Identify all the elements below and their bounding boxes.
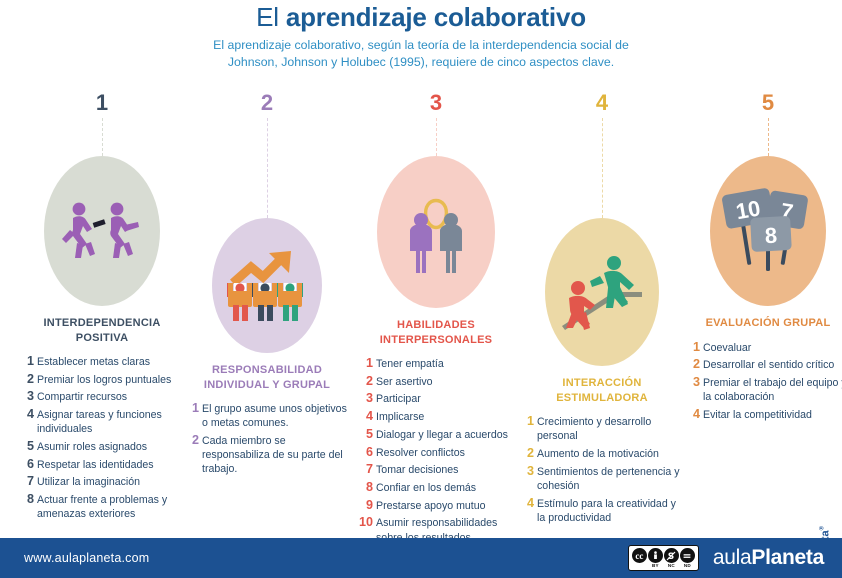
helping-hand-slope-icon	[556, 252, 648, 332]
column-4: 4 INTERACCIÓN ESTIMULADORA1Crecimiento y…	[518, 90, 686, 528]
watermark-registered: ®	[819, 526, 825, 530]
footer-bar: www.aulaplaneta.com cc BY	[0, 538, 842, 578]
list-item: 1El grupo asume unos objetivos o metas c…	[183, 402, 351, 430]
paddle-score-2: 8	[764, 223, 778, 249]
list-item: 4Asignar tareas y funciones individuales	[18, 408, 186, 436]
column-number-4: 4	[518, 90, 686, 118]
column-heading-3: HABILIDADES INTERPERSONALES	[352, 318, 520, 347]
list-item-number: 9	[352, 498, 373, 513]
list-item-text: Desarrollar el sentido crítico	[703, 359, 834, 371]
list-item-number: 4	[684, 407, 700, 422]
list-item-number: 1	[352, 356, 373, 371]
list-item-number: 6	[18, 457, 34, 472]
list-item-text: Actuar frente a problemas y amenazas ext…	[37, 494, 167, 520]
crossed-currency-glyph: S	[665, 550, 677, 562]
list-item-number: 4	[352, 409, 373, 424]
list-item-text: Respetar las identidades	[37, 459, 154, 471]
team-arrow-up-icon	[212, 218, 322, 353]
page-title-light: El	[256, 2, 286, 32]
list-item: 2Ser asertivo	[352, 375, 520, 389]
relay-runners-icon	[44, 156, 160, 306]
connector-dashed-line	[102, 118, 103, 156]
list-item: 4Estímulo para la creatividad y la produ…	[518, 497, 686, 525]
column-number-3: 3	[352, 90, 520, 118]
list-item: 5Dialogar y llegar a acuerdos	[352, 428, 520, 442]
column-heading-4: INTERACCIÓN ESTIMULADORA	[518, 376, 686, 405]
list-item: 2Aumento de la motivación	[518, 447, 686, 461]
list-item-number: 2	[352, 374, 373, 389]
cc-by-col: BY	[648, 548, 663, 569]
footer-brand-light: aula	[713, 546, 752, 569]
column-number-5: 5	[684, 90, 842, 118]
list-item-text: Establecer metas claras	[37, 356, 150, 368]
list-item-text: Compartir recursos	[37, 391, 127, 403]
list-item-number: 3	[684, 375, 700, 390]
list-item-number: 4	[18, 407, 34, 422]
icon-circle-wrap	[352, 156, 520, 308]
list-item: 4Evitar la competitividad	[684, 408, 842, 422]
list-item: 3Sentimientos de pertenencia y cohesión	[518, 465, 686, 493]
list-item: 8Actuar frente a problemas y amenazas ex…	[18, 493, 186, 521]
column-points-list: 1Tener empatía2Ser asertivo3Participar4I…	[352, 357, 520, 545]
icon-circle-wrap	[518, 218, 686, 366]
list-item-text: Asignar tareas y funciones individuales	[37, 409, 162, 435]
column-number-1: 1	[18, 90, 186, 118]
column-heading-2: RESPONSABILIDAD INDIVIDUAL Y GRUPAL	[183, 363, 351, 392]
list-item-number: 5	[18, 439, 34, 454]
column-number-2: 2	[183, 90, 351, 118]
cc-nc-col: S NC	[664, 548, 679, 569]
footer-right: cc BY S	[628, 545, 824, 571]
footer-url[interactable]: www.aulaplaneta.com	[24, 551, 149, 565]
list-item-number: 7	[18, 474, 34, 489]
column-points-list: 1Coevaluar2Desarrollar el sentido crític…	[684, 341, 842, 423]
list-item: 3Compartir recursos	[18, 390, 186, 404]
person-glyph	[650, 550, 661, 561]
list-item-number: 1	[18, 354, 34, 369]
list-item: 1Tener empatía	[352, 357, 520, 371]
team-arrow-up-icon	[221, 247, 313, 325]
page-title: El aprendizaje colaborativo	[0, 2, 842, 33]
list-item-text: Premiar el trabajo del equipo y la colab…	[703, 377, 842, 403]
list-item: 7Utilizar la imaginación	[18, 475, 186, 489]
list-item-number: 2	[18, 372, 34, 387]
cc-label-by: BY	[652, 563, 659, 569]
list-item-text: Implicarse	[376, 411, 424, 423]
column-heading-5: EVALUACIÓN GRUPAL	[684, 316, 842, 331]
list-item-number: 1	[183, 401, 199, 416]
creative-commons-icon: cc	[632, 548, 647, 563]
list-item: 6Respetar las identidades	[18, 458, 186, 472]
list-item-text: Estímulo para la creatividad y la produc…	[537, 498, 676, 524]
column-2: 2	[183, 90, 351, 480]
list-item-text: Tomar decisiones	[376, 464, 458, 476]
score-paddles-icon: 10 7 8	[710, 156, 826, 306]
column-points-list: 1El grupo asume unos objetivos o metas c…	[183, 402, 351, 477]
list-item-number: 8	[18, 492, 34, 507]
list-item-number: 10	[352, 515, 373, 530]
list-item-text: Coevaluar	[703, 342, 751, 354]
noncommercial-icon: S	[664, 548, 679, 563]
cc-label-nc: NC	[668, 563, 675, 569]
list-item: 2Cada miembro se responsabiliza de su pa…	[183, 434, 351, 477]
footer-brand: aulaPlaneta	[713, 546, 824, 570]
list-item-number: 2	[518, 446, 534, 461]
list-item: 2Desarrollar el sentido crítico	[684, 358, 842, 372]
infographic-page: El aprendizaje colaborativo El aprendiza…	[0, 0, 842, 578]
list-item: 1Crecimiento y desarrollo personal	[518, 415, 686, 443]
icon-circle-wrap: 10 7 8	[684, 156, 842, 306]
list-item-number: 3	[18, 389, 34, 404]
list-item: 5Asumir roles asignados	[18, 440, 186, 454]
two-people-dialogue-icon	[396, 187, 476, 277]
column-5: 5 10 7 8 EVALUACIÓN GRUPAL1Coevaluar2Des…	[684, 90, 842, 426]
list-item-text: Crecimiento y desarrollo personal	[537, 416, 651, 442]
list-item-text: Asumir roles asignados	[37, 441, 147, 453]
list-item-number: 3	[518, 464, 534, 479]
cc-icon-col: cc	[632, 548, 647, 569]
list-item-text: Sentimientos de pertenencia y cohesión	[537, 466, 680, 492]
list-item-text: Tener empatía	[376, 358, 444, 370]
page-subtitle-line1: El aprendizaje colaborativo, según la te…	[0, 37, 842, 54]
list-item-text: Premiar los logros puntuales	[37, 374, 171, 386]
two-people-dialogue-icon	[377, 156, 495, 308]
list-item-text: Ser asertivo	[376, 376, 433, 388]
relay-runners-icon	[59, 200, 145, 262]
footer-brand-bold: Planeta	[751, 546, 824, 569]
list-item: 6Resolver conflictos	[352, 446, 520, 460]
list-item-text: Prestarse apoyo mutuo	[376, 500, 486, 512]
list-item-text: El grupo asume unos objetivos o metas co…	[202, 403, 347, 429]
list-item: 2Premiar los logros puntuales	[18, 373, 186, 387]
list-item-text: Participar	[376, 393, 421, 405]
column-3: 3 HABILIDADES INTERPERSONALES1Tener empa…	[352, 90, 520, 548]
list-item: 4Implicarse	[352, 410, 520, 424]
list-item-text: Dialogar y llegar a acuerdos	[376, 429, 508, 441]
cc-by-nc-nd-badge[interactable]: cc BY S	[628, 545, 699, 571]
list-item: 1Establecer metas claras	[18, 355, 186, 369]
list-item: 3Premiar el trabajo del equipo y la cola…	[684, 376, 842, 404]
connector-dashed-line	[602, 118, 603, 218]
icon-circle-wrap	[183, 218, 351, 353]
icon-circle-wrap	[18, 156, 186, 306]
equals-glyph	[681, 550, 693, 562]
list-item-number: 2	[183, 433, 199, 448]
connector-dashed-line	[436, 118, 437, 156]
list-item-number: 4	[518, 496, 534, 511]
list-item-number: 1	[684, 340, 700, 355]
list-item-number: 3	[352, 391, 373, 406]
list-item-text: Confiar en los demás	[376, 482, 476, 494]
helping-hand-slope-icon	[545, 218, 659, 366]
list-item: 1Coevaluar	[684, 341, 842, 355]
column-heading-1: INTERDEPENDENCIA POSITIVA	[18, 316, 186, 345]
list-item-number: 6	[352, 445, 373, 460]
list-item-text: Evitar la competitividad	[703, 409, 812, 421]
list-item: 9Prestarse apoyo mutuo	[352, 499, 520, 513]
page-subtitle: El aprendizaje colaborativo, según la te…	[0, 37, 842, 71]
list-item-number: 5	[352, 427, 373, 442]
list-item-text: Resolver conflictos	[376, 447, 465, 459]
attribution-person-icon	[648, 548, 663, 563]
connector-dashed-line	[768, 118, 769, 156]
list-item-text: Aumento de la motivación	[537, 448, 659, 460]
cc-label-0	[639, 563, 640, 569]
list-item: 7Tomar decisiones	[352, 463, 520, 477]
noderivatives-icon	[680, 548, 695, 563]
list-item: 3Participar	[352, 392, 520, 406]
column-points-list: 1Crecimiento y desarrollo personal2Aumen…	[518, 415, 686, 525]
column-points-list: 1Establecer metas claras2Premiar los log…	[18, 355, 186, 522]
page-title-bold: aprendizaje colaborativo	[286, 2, 586, 32]
list-item-number: 1	[518, 414, 534, 429]
score-paddles-icon: 10 7 8	[722, 187, 814, 275]
connector-dashed-line	[267, 118, 268, 218]
list-item-text: Utilizar la imaginación	[37, 476, 140, 488]
list-item-number: 7	[352, 462, 373, 477]
cc-nd-col: ND	[680, 548, 695, 569]
list-item-number: 2	[684, 357, 700, 372]
list-item: 8Confiar en los demás	[352, 481, 520, 495]
page-subtitle-line2: Johnson, Johnson y Holubec (1995), requi…	[0, 54, 842, 71]
list-item-text: Cada miembro se responsabiliza de su par…	[202, 435, 343, 475]
column-1: 1 INTERDEPENDENCIA POSITIVA1Establecer m…	[18, 90, 186, 525]
list-item-number: 8	[352, 480, 373, 495]
cc-label-nd: ND	[684, 563, 691, 569]
